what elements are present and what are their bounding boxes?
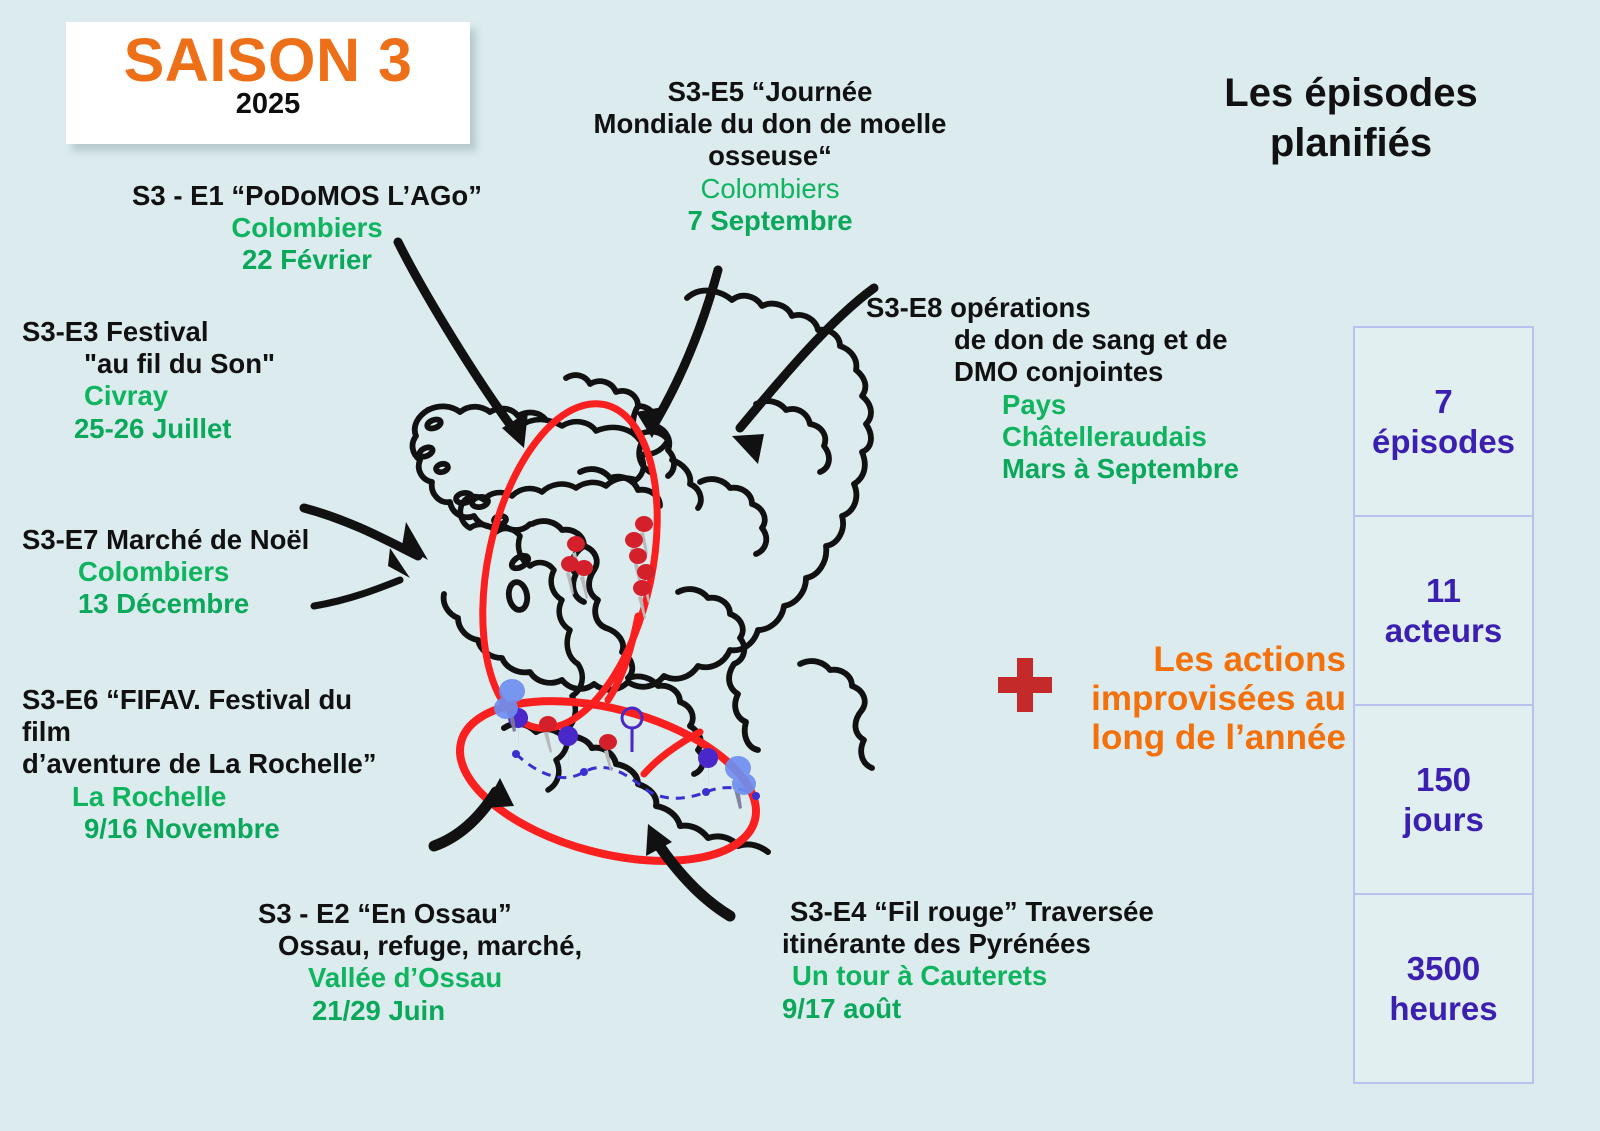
improvised-actions-text: Les actions improvisées au long de l’ann… bbox=[1058, 640, 1346, 758]
map-pins-red-pyrenees bbox=[539, 716, 617, 771]
episode-title-line1: S3-E4 “Fil rouge” Traversée bbox=[782, 896, 1222, 928]
episode-title-line1: S3-E3 Festival bbox=[22, 316, 422, 348]
episode-date: 22 Février bbox=[92, 244, 522, 276]
stats-table: 7 épisodes 11 acteurs 150 jours 3500 heu… bbox=[1353, 326, 1534, 1084]
episode-title-line3: osseuse“ bbox=[556, 140, 984, 172]
episode-location: Vallée d’Ossau bbox=[250, 962, 670, 994]
episode-title-line2: itinérante des Pyrénées bbox=[782, 928, 1222, 960]
stat-value: 3500 bbox=[1407, 949, 1480, 989]
saison-year: 2025 bbox=[236, 90, 301, 119]
episode-title-line2: film bbox=[22, 716, 452, 748]
saison-title: SAISON 3 bbox=[124, 28, 413, 92]
arrow-s3e5 bbox=[636, 270, 718, 438]
episode-location: Colombiers bbox=[22, 556, 422, 588]
episode-location: La Rochelle bbox=[22, 781, 452, 813]
stat-cell-hours: 3500 heures bbox=[1355, 895, 1532, 1082]
episode-block-s3e3: S3-E3 Festival "au fil du Son" Civray 25… bbox=[22, 316, 422, 445]
saison-banner: SAISON 3 2025 bbox=[66, 22, 470, 144]
map-regions bbox=[413, 291, 872, 774]
page-title-line2: planifiés bbox=[1178, 118, 1524, 168]
episode-date: 21/29 Juin bbox=[250, 995, 670, 1027]
episode-location: Colombiers bbox=[92, 212, 522, 244]
page-title-line1: Les épisodes bbox=[1178, 68, 1524, 118]
stat-cell-days: 150 jours bbox=[1355, 706, 1532, 895]
episode-date: 9/17 août bbox=[782, 993, 1222, 1025]
stat-unit: jours bbox=[1403, 800, 1484, 840]
stat-unit: heures bbox=[1389, 989, 1497, 1029]
episode-date: 9/16 Novembre bbox=[22, 813, 452, 845]
highlight-ellipse-pyrenees-tail bbox=[644, 732, 700, 774]
episode-location: Un tour à Cauterets bbox=[782, 960, 1222, 992]
episode-title: S3 - E1 “PoDoMOS L’AGo” bbox=[92, 180, 522, 212]
stat-cell-actors: 11 acteurs bbox=[1355, 517, 1532, 706]
episode-title-line1: S3-E6 “FIFAV. Festival du bbox=[22, 684, 452, 716]
stat-unit: épisodes bbox=[1372, 422, 1515, 462]
episode-location: Civray bbox=[22, 380, 422, 412]
episode-block-s3e7: S3-E7 Marché de Noël Colombiers 13 Décem… bbox=[22, 524, 422, 621]
episode-title-line1: S3 - E2 “En Ossau” bbox=[250, 898, 670, 930]
france-map-svg bbox=[400, 276, 1000, 896]
stat-unit: acteurs bbox=[1385, 611, 1502, 651]
stat-cell-episodes: 7 épisodes bbox=[1355, 328, 1532, 517]
episode-block-s3e5: S3-E5 “Journée Mondiale du don de moelle… bbox=[556, 76, 984, 237]
improvised-actions-block: Les actions improvisées au long de l’ann… bbox=[996, 640, 1346, 758]
stat-value: 7 bbox=[1434, 382, 1452, 422]
france-map bbox=[400, 276, 1000, 896]
page-title: Les épisodes planifiés bbox=[1178, 68, 1524, 168]
episode-date: 7 Septembre bbox=[556, 205, 984, 237]
episode-location: Colombiers bbox=[556, 173, 984, 205]
episode-date: 25-26 Juillet bbox=[22, 413, 422, 445]
episode-block-s3e2: S3 - E2 “En Ossau” Ossau, refuge, marché… bbox=[250, 898, 670, 1027]
route-markers bbox=[508, 708, 718, 792]
episode-title-line2: Mondiale du don de moelle bbox=[556, 108, 984, 140]
episode-block-s3e1: S3 - E1 “PoDoMOS L’AGo” Colombiers 22 Fé… bbox=[92, 180, 522, 277]
improvised-line1: Les actions bbox=[1058, 640, 1346, 679]
episode-block-s3e6: S3-E6 “FIFAV. Festival du film d’aventur… bbox=[22, 684, 452, 845]
episode-block-s3e4: S3-E4 “Fil rouge” Traversée itinérante d… bbox=[782, 896, 1222, 1025]
plus-icon bbox=[996, 656, 1054, 714]
stat-value: 150 bbox=[1416, 760, 1471, 800]
episode-title-line2: "au fil du Son" bbox=[22, 348, 422, 380]
improvised-line2: improvisées au bbox=[1058, 679, 1346, 718]
stat-value: 11 bbox=[1426, 571, 1461, 611]
episode-title-line2: Ossau, refuge, marché, bbox=[250, 930, 670, 962]
highlight-ellipse-pyrenees bbox=[443, 672, 774, 890]
improvised-line3: long de l’année bbox=[1058, 718, 1346, 757]
episode-title-line3: d’aventure de La Rochelle” bbox=[22, 748, 452, 780]
episode-title-line1: S3-E5 “Journée bbox=[556, 76, 984, 108]
